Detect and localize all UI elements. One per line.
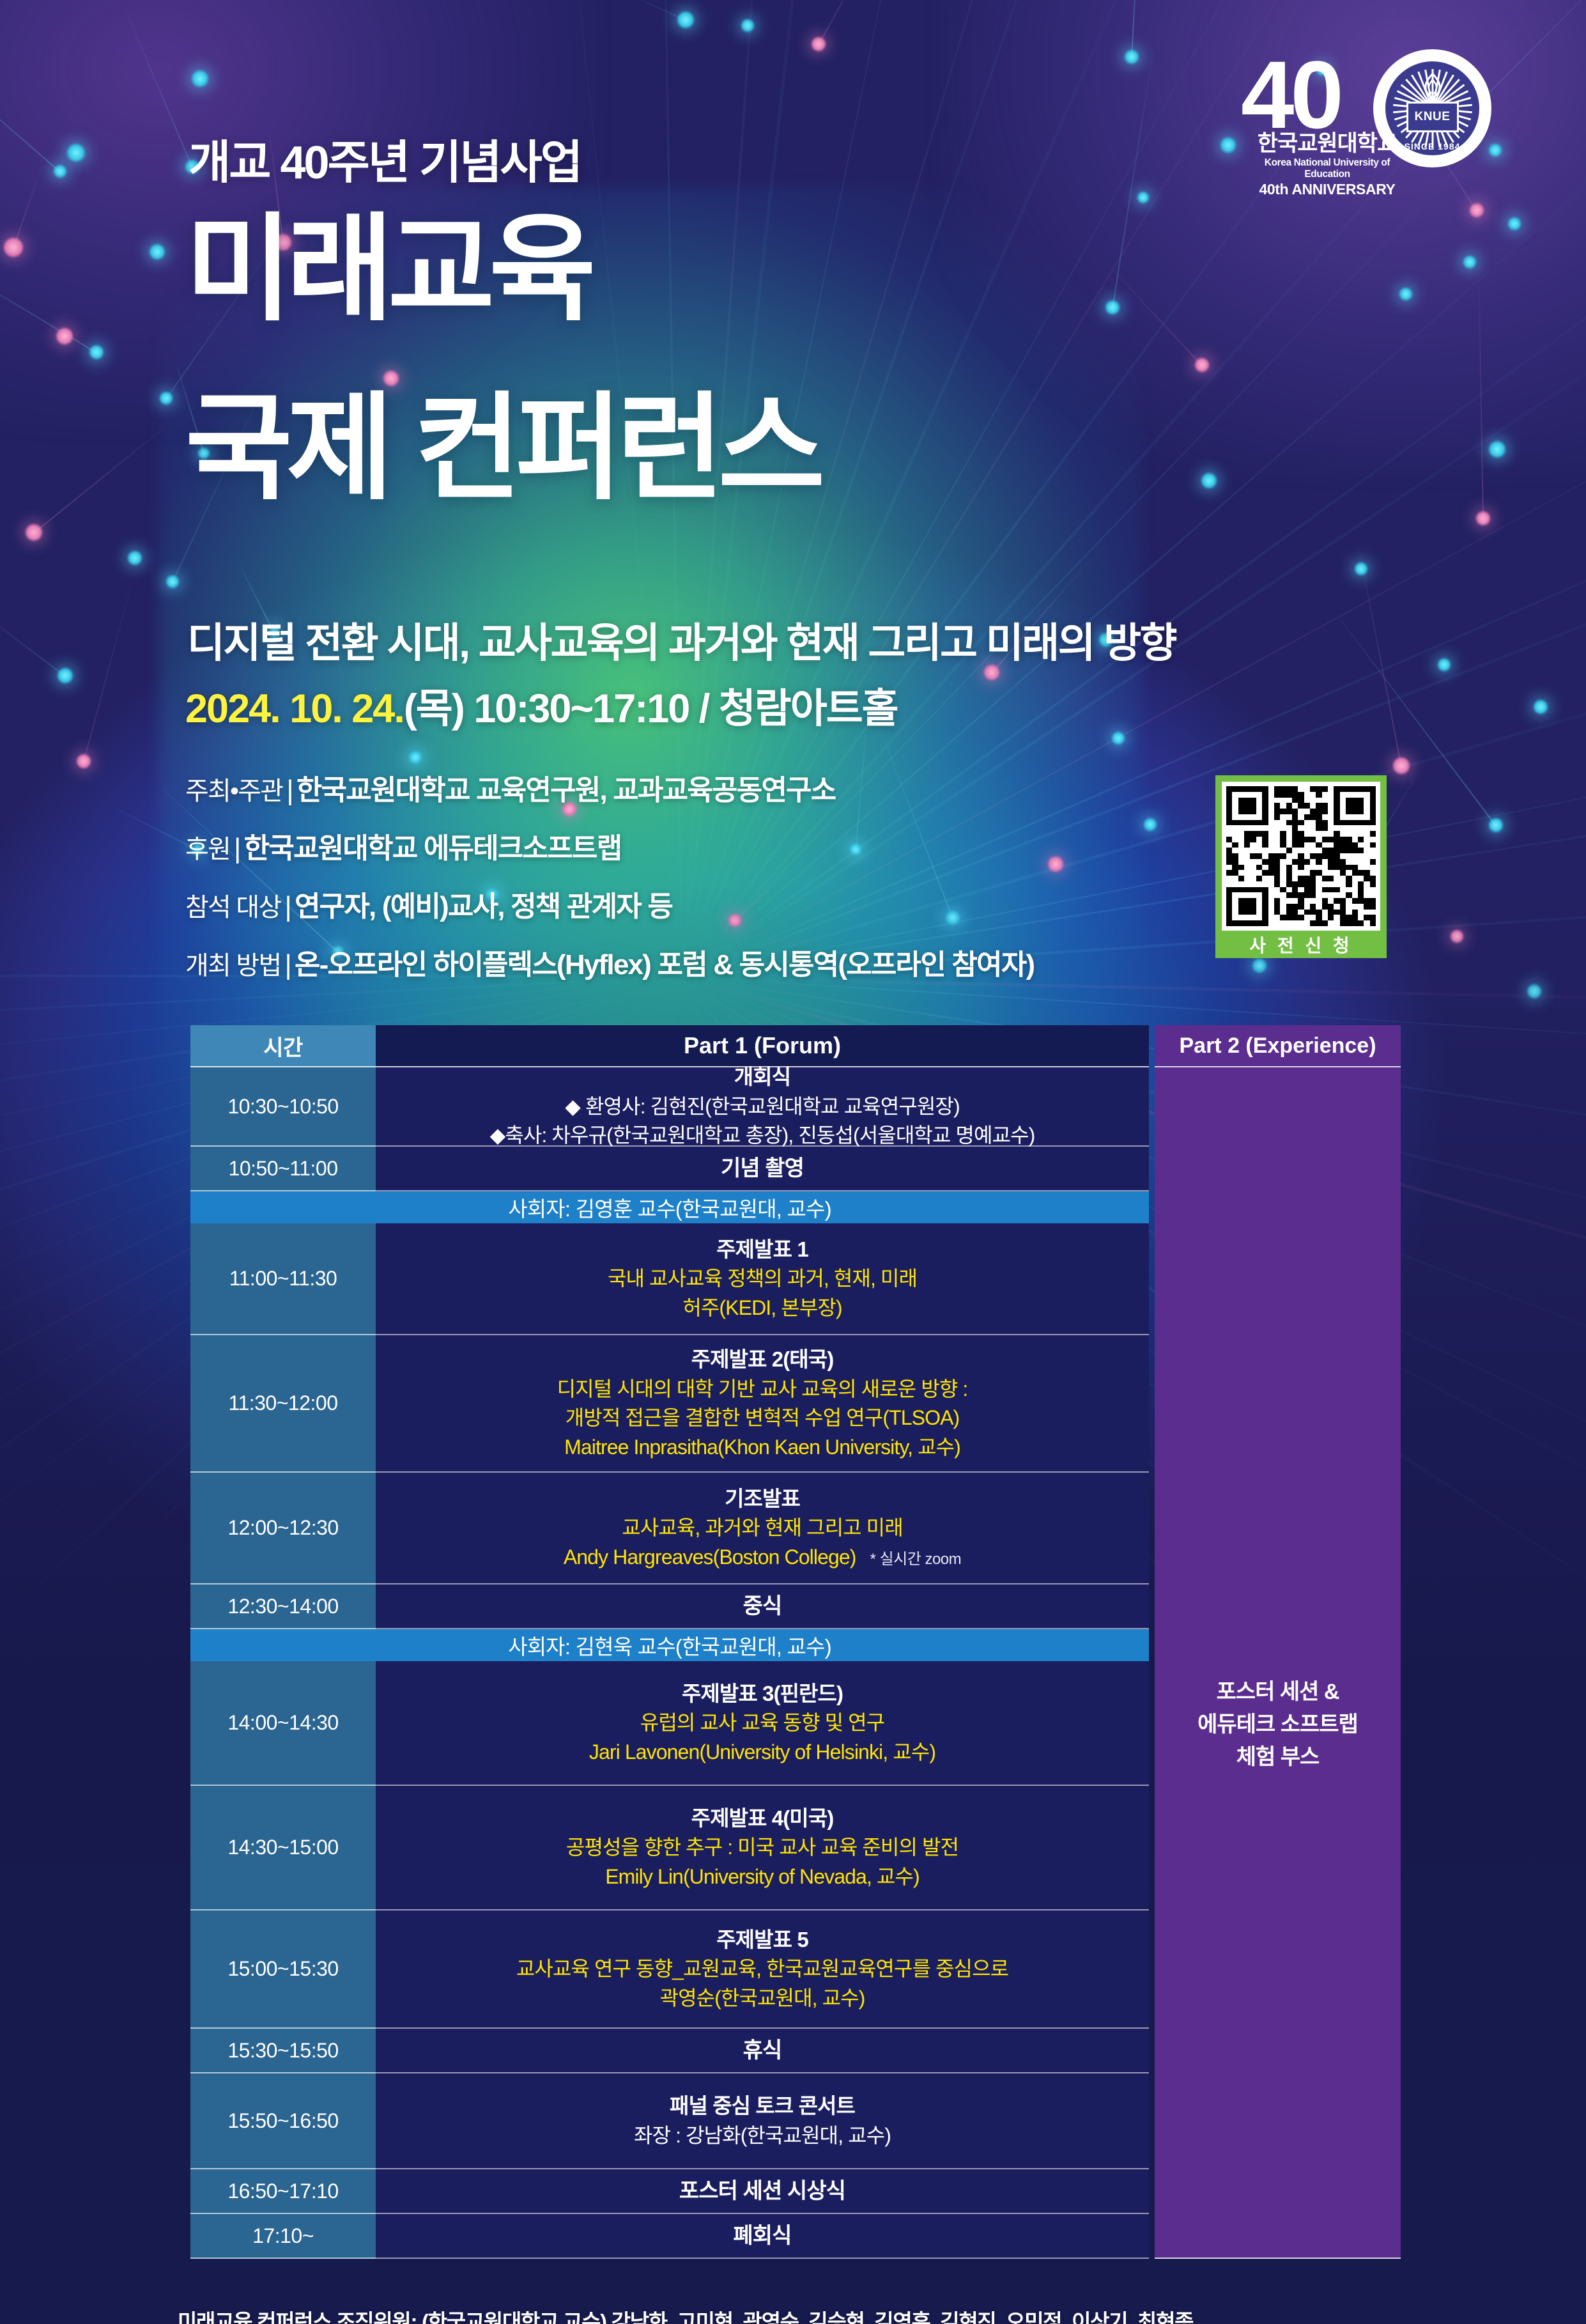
session-line: 포스터 세션 시상식	[679, 2176, 845, 2206]
info-value: 연구자, (예비)교사, 정책 관계자 등	[295, 891, 672, 922]
table-row: 10:50~11:00기념 촬영	[190, 1147, 1401, 1191]
row-content: 주제발표 3(핀란드)유럽의 교사 교육 동향 및 연구Jari Lavonen…	[376, 1661, 1149, 1786]
row-content: 포스터 세션 시상식	[376, 2169, 1149, 2214]
table-header-row: 시간Part 1 (Forum)Part 2 (Experience)	[190, 1025, 1401, 1067]
header-part2: Part 2 (Experience)	[1155, 1025, 1401, 1067]
session-line: 국내 교사교육 정책의 과거, 현재, 미래	[608, 1264, 917, 1293]
info-value: 한국교원대학교 교육연구원, 교과교육공동연구소	[296, 775, 836, 806]
row-time: 16:50~17:10	[190, 2169, 376, 2214]
row-content: 주제발표 2(태국)디지털 시대의 대학 기반 교사 교육의 새로운 방향 :개…	[376, 1335, 1149, 1473]
logo-anniversary-label: 40th ANNIVERSARY	[1247, 181, 1407, 198]
info-separator: |	[281, 891, 295, 922]
session-line: 주제발표 5	[716, 1925, 808, 1955]
info-row: 주최•주관|한국교원대학교 교육연구원, 교과교육공동연구소	[185, 767, 1034, 808]
row-time: 17:10~	[190, 2214, 376, 2259]
organizing-committee-note: 미래교육 컨퍼런스 조직위원: (한국교원대학교 교수) 강남화, 고미현, 곽…	[178, 2305, 1193, 2324]
session-line: 유럽의 교사 교육 동향 및 연구	[640, 1708, 884, 1737]
session-line: 중식	[743, 1591, 782, 1622]
date-rest: (목) 10:30~17:10 / 청람아트홀	[404, 686, 898, 731]
session-line: 허주(KEDI, 본부장)	[682, 1294, 842, 1322]
row-time: 15:50~16:50	[190, 2073, 376, 2169]
part2-cell	[1155, 1147, 1401, 1191]
session-line: 주제발표 2(태국)	[691, 1345, 834, 1375]
event-info-block: 주최•주관|한국교원대학교 교육연구원, 교과교육공동연구소후원|한국교원대학교…	[185, 767, 1034, 1000]
logo-university-name-en: Korea National University of Education	[1247, 157, 1407, 180]
moderator-label: 사회자: 김영훈 교수(한국교원대, 교수)	[190, 1191, 1149, 1223]
info-label: 후원	[185, 835, 230, 864]
row-time: 11:00~11:30	[190, 1223, 376, 1335]
session-line: 기념 촬영	[721, 1153, 804, 1184]
flame-icon	[1422, 73, 1444, 98]
session-line: 패널 중심 토크 콘서트	[670, 2091, 855, 2121]
info-value: 온-오프라인 하이플렉스(Hyflex) 포럼 & 동시통역(오프라인 참여자)	[295, 949, 1034, 980]
row-time: 12:30~14:00	[190, 1584, 376, 1629]
session-line: 곽영순(한국교원대, 교수)	[660, 1984, 865, 2013]
session-line: Maitree Inprasitha(Khon Kaen University,…	[564, 1433, 960, 1462]
row-time: 14:30~15:00	[190, 1786, 376, 1910]
logo-university-name-kr: 한국교원대학교	[1247, 132, 1407, 156]
qr-code-icon[interactable]	[1222, 782, 1380, 931]
session-line: Jari Lavonen(University of Helsinki, 교수)	[589, 1738, 935, 1767]
page-title-line2: 국제 컨퍼런스	[185, 390, 819, 506]
session-line: 좌장 : 강남화(한국교원대, 교수)	[634, 2121, 891, 2150]
info-label: 개최 방법	[185, 952, 281, 980]
page-title-line1: 미래교육	[185, 211, 590, 327]
subtitle-text: 디지털 전환 시대, 교사교육의 과거와 현재 그리고 미래의 방향	[187, 610, 1176, 669]
row-content: 주제발표 4(미국)공평성을 향한 추구 : 미국 교사 교육 준비의 발전Em…	[376, 1786, 1149, 1910]
qr-label: 사 전 신 청	[1222, 931, 1380, 958]
info-separator: |	[230, 833, 244, 864]
table-row: 10:30~10:50개회식◆ 환영사: 김현진(한국교원대학교 교육연구원장)…	[190, 1067, 1401, 1147]
session-line: 교사교육, 과거와 현재 그리고 미래	[622, 1514, 903, 1542]
session-line: 기조발표	[725, 1484, 800, 1514]
row-time: 15:30~15:50	[190, 2029, 376, 2073]
info-row: 후원|한국교원대학교 에듀테크소프트랩	[185, 825, 1034, 866]
moderator-label: 사회자: 김현욱 교수(한국교원대, 교수)	[190, 1629, 1149, 1661]
session-line: 휴식	[743, 2035, 782, 2066]
header-part1: Part 1 (Forum)	[376, 1025, 1149, 1067]
part2-line-1: 포스터 세션 &	[1217, 1676, 1339, 1708]
session-line: 디지털 시대의 대학 기반 교사 교육의 새로운 방향 :	[557, 1375, 968, 1404]
part2-merged-text: 포스터 세션 &에듀테크 소프트랩체험 부스	[1155, 1191, 1401, 2258]
logo-number-40: 40	[1241, 47, 1340, 143]
row-content: 패널 중심 토크 콘서트좌장 : 강남화(한국교원대, 교수)	[376, 2073, 1149, 2169]
conference-poster: 40 KNUE SINCE 1984 한국교원대학교 Korea Nationa…	[0, 0, 1586, 2324]
row-content: 기조발표교사교육, 과거와 현재 그리고 미래Andy Hargreaves(B…	[376, 1473, 1149, 1584]
row-content: 휴식	[376, 2029, 1149, 2073]
part2-cell	[1155, 1067, 1401, 1147]
row-content: 주제발표 5교사교육 연구 동향_교원교육, 한국교원교육연구를 중심으로곽영순…	[376, 1910, 1149, 2029]
live-zoom-note: * 실시간 zoom	[870, 1551, 962, 1568]
row-time: 14:00~14:30	[190, 1661, 376, 1786]
part2-line-3: 체험 부스	[1236, 1741, 1320, 1774]
session-line: 주제발표 1	[716, 1235, 808, 1265]
part2-line-2: 에듀테크 소프트랩	[1197, 1708, 1358, 1741]
session-line: 주제발표 4(미국)	[691, 1804, 834, 1834]
eyebrow-text: 개교 40주년 기념사업	[189, 125, 581, 192]
info-separator: |	[281, 949, 295, 980]
session-line: 폐회식	[733, 2220, 791, 2251]
session-line: Andy Hargreaves(Boston College)* 실시간 zoo…	[564, 1543, 961, 1572]
knue-40th-logo: 40 KNUE SINCE 1984 한국교원대학교 Korea Nationa…	[1241, 35, 1497, 198]
info-row: 개최 방법|온-오프라인 하이플렉스(Hyflex) 포럼 & 동시통역(오프라…	[185, 941, 1034, 982]
info-label: 주최•주관	[185, 777, 282, 805]
row-time: 11:30~12:00	[190, 1335, 376, 1473]
date-time-venue: 2024. 10. 24.(목) 10:30~17:10 / 청람아트홀	[185, 676, 898, 734]
row-content: 중식	[376, 1584, 1149, 1629]
info-value: 한국교원대학교 에듀테크소프트랩	[244, 833, 622, 864]
header-time: 시간	[190, 1025, 376, 1067]
open-book-icon: KNUE	[1406, 102, 1459, 132]
info-label: 참석 대상	[185, 894, 281, 922]
row-time: 10:30~10:50	[190, 1067, 376, 1147]
schedule-table: 시간Part 1 (Forum)Part 2 (Experience)10:30…	[190, 1025, 1401, 2259]
row-content: 기념 촬영	[376, 1147, 1149, 1191]
info-row: 참석 대상|연구자, (예비)교사, 정책 관계자 등	[185, 883, 1034, 924]
row-content: 개회식◆ 환영사: 김현진(한국교원대학교 교육연구원장)◆축사: 차우규(한국…	[376, 1067, 1149, 1147]
part2-merged-cell: 포스터 세션 &에듀테크 소프트랩체험 부스	[1155, 1191, 1401, 2259]
qr-registration-box[interactable]: 사 전 신 청	[1215, 775, 1387, 958]
row-time: 15:00~15:30	[190, 1910, 376, 2029]
session-line: 주제발표 3(핀란드)	[682, 1679, 843, 1709]
row-time: 10:50~11:00	[190, 1147, 376, 1191]
session-line: ◆ 환영사: 김현진(한국교원대학교 교육연구원장)	[565, 1092, 959, 1121]
info-separator: |	[282, 775, 296, 806]
date-year: 2024. 10. 24.	[185, 686, 404, 731]
session-line: 공평성을 향한 추구 : 미국 교사 교육 준비의 발전	[566, 1833, 959, 1862]
session-line: Emily Lin(University of Nevada, 교수)	[605, 1863, 920, 1891]
session-line: 개방적 접근을 결합한 변혁적 수업 연구(TLSOA)	[566, 1404, 960, 1432]
session-line: 개회식	[734, 1062, 790, 1092]
row-content: 주제발표 1국내 교사교육 정책의 과거, 현재, 미래허주(KEDI, 본부장…	[376, 1223, 1149, 1335]
row-time: 12:00~12:30	[190, 1473, 376, 1584]
session-line: 교사교육 연구 동향_교원교육, 한국교원교육연구를 중심으로	[516, 1955, 1008, 1983]
row-content: 폐회식	[376, 2214, 1149, 2259]
